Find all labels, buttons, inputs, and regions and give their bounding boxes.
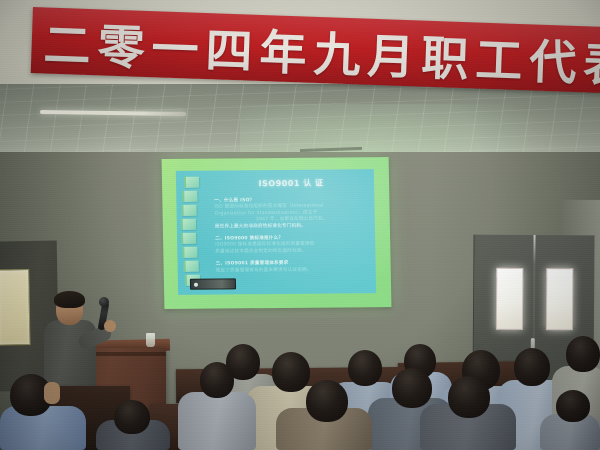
- door-window-right: [546, 268, 573, 330]
- audience-head: [566, 336, 600, 372]
- door-window-left: [496, 268, 523, 330]
- projection-screen: ISO9001 认 证 一、什么是 ISO？ISO 是国际标准化组织的英文缩写（…: [162, 157, 392, 309]
- audience-head: [448, 376, 490, 418]
- slide-title: ISO9001 认 证: [226, 177, 356, 189]
- slide-tab: [181, 219, 196, 230]
- slide-tab: [181, 205, 196, 216]
- speaker-hair: [54, 291, 85, 308]
- microphone-head-icon: [99, 297, 109, 307]
- slide-tab: [181, 233, 196, 244]
- slide-tab: [182, 247, 197, 258]
- slide-body: 一、什么是 ISO？ISO 是国际标准化组织的英文缩写（Internationa…: [214, 197, 369, 274]
- slide-line: 规定了质量管理体系的基本要求与认证依据。: [216, 267, 370, 275]
- audience-head: [200, 362, 234, 398]
- slide-footer-logo-icon: [190, 278, 236, 289]
- audience-head: [392, 368, 432, 408]
- slide-tab: [184, 261, 199, 272]
- audience-hand: [44, 382, 60, 404]
- audience-head: [114, 400, 150, 434]
- slide-area: ISO9001 认 证 一、什么是 ISO？ISO 是国际标准化组织的英文缩写（…: [176, 169, 376, 295]
- audience-head: [514, 348, 550, 386]
- audience-head: [348, 350, 382, 386]
- audience-head: [272, 352, 310, 392]
- speaker-hand: [104, 320, 116, 332]
- audience-head: [556, 390, 590, 422]
- audience-head: [306, 380, 348, 422]
- notice-board: [0, 269, 31, 346]
- slide-tab: [184, 177, 199, 188]
- audience-body: [178, 392, 256, 450]
- photo-meeting-room: ISO9001 认 证 一、什么是 ISO？ISO 是国际标准化组织的英文缩写（…: [0, 0, 600, 450]
- water-bottle: [146, 333, 155, 347]
- slide-tab: [182, 191, 197, 202]
- slide-tab-decorations: [180, 175, 204, 291]
